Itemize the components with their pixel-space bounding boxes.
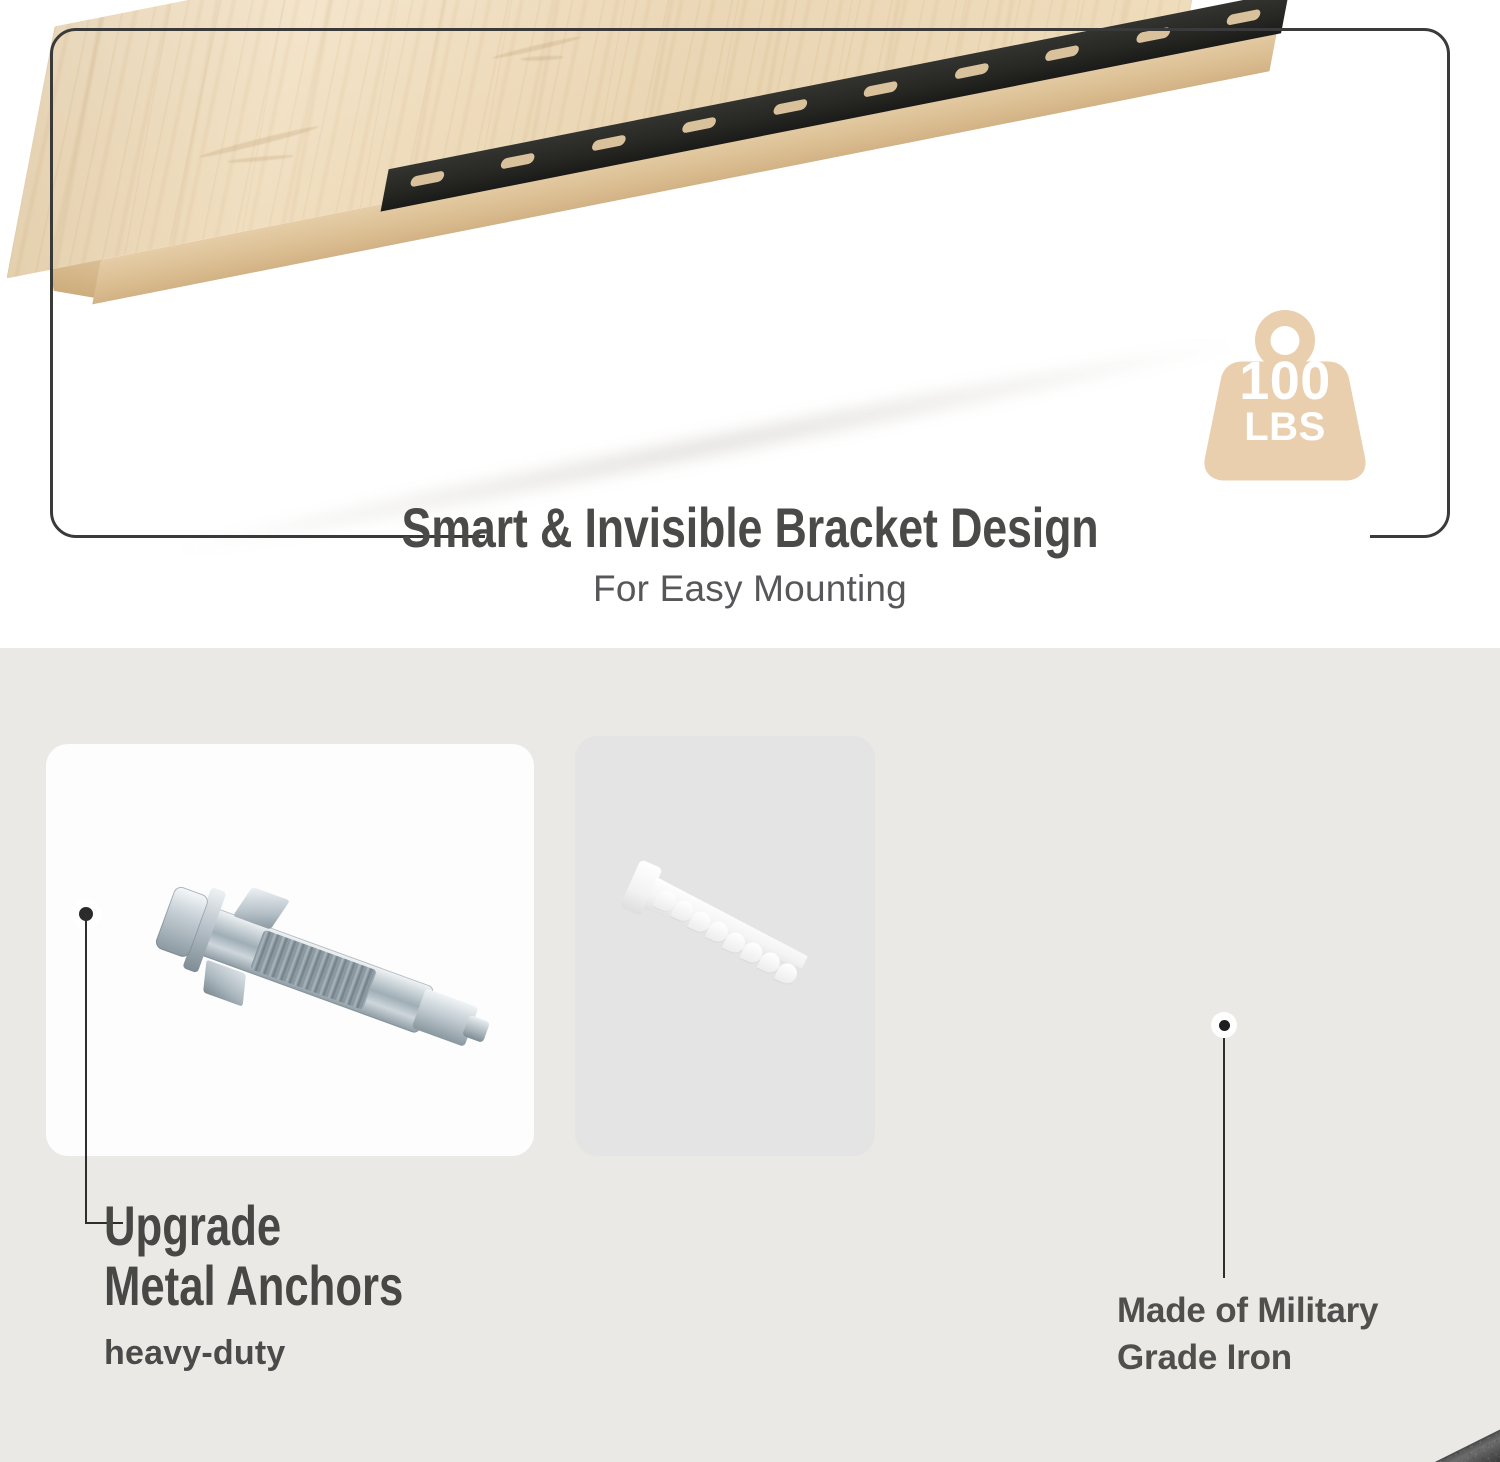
plastic-anchor-image: [599, 844, 858, 1047]
anchor-expansion-sleeve: [250, 929, 377, 1010]
iron-pipe-callout-marker: [1211, 1012, 1237, 1038]
iron-feature-line1: Made of Military: [1117, 1288, 1477, 1335]
page-title: Smart & Invisible Bracket Design: [150, 495, 1350, 560]
bracket-slot: [682, 116, 717, 133]
bracket-slot: [1135, 27, 1170, 44]
bracket-slot: [1044, 45, 1079, 62]
bracket-slot: [954, 63, 989, 80]
bracket-slot: [410, 170, 445, 187]
weight-badge-text: 100 LBS: [1192, 356, 1378, 446]
feature-title-line1: Upgrade: [104, 1196, 572, 1256]
metal-anchor-callout-line-vertical: [85, 914, 87, 1224]
bracket-slot: [1226, 9, 1261, 26]
bracket-slot: [772, 98, 807, 115]
iron-feature-line2: Grade Iron: [1117, 1335, 1477, 1382]
top-section: 100 LBS Smart & Invisible Bracket Design…: [0, 0, 1500, 648]
iron-pipe-feature-text: Made of Military Grade Iron: [1117, 1288, 1477, 1382]
page-subtitle: For Easy Mounting: [0, 568, 1500, 610]
weight-capacity-badge: 100 LBS: [1192, 302, 1378, 488]
bracket-slot: [591, 134, 626, 151]
feature-title-line2: Metal Anchors: [104, 1256, 572, 1316]
plug-ribs: [645, 888, 813, 992]
wood-grain-mark: [520, 55, 565, 61]
plastic-anchor-card: [575, 736, 875, 1156]
product-infographic: 100 LBS Smart & Invisible Bracket Design…: [0, 0, 1500, 1462]
bracket-slot: [500, 152, 535, 169]
metal-anchor-card: [46, 744, 534, 1156]
bracket-slot: [863, 80, 898, 97]
feature-subtitle: heavy-duty: [104, 1334, 704, 1373]
wood-shelf: [55, 0, 1327, 458]
metal-anchor-feature-text: Upgrade Metal Anchors heavy-duty: [104, 1196, 704, 1373]
wood-grain-mark: [227, 154, 295, 164]
metal-anchor-image: [87, 837, 505, 1111]
wood-grain-mark: [199, 124, 319, 160]
weight-unit: LBS: [1192, 408, 1378, 446]
weight-value: 100: [1192, 356, 1378, 408]
wood-grain-mark: [645, 0, 793, 2]
iron-pipe-callout-line: [1223, 1038, 1225, 1278]
